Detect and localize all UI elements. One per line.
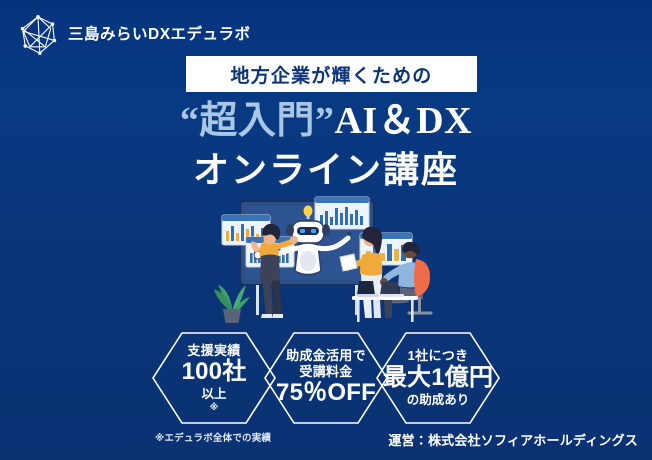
badge-max-subsidy: 1社につき 最大1億円 の助成あり — [374, 330, 502, 426]
headline-main: AI＆DX — [334, 100, 472, 142]
poster-canvas: 三島みらいDXエデュラボ 地方企業が輝くための “超入門”AI＆DX オンライン… — [0, 0, 652, 460]
badge-2-small-top: 1社につき — [408, 349, 469, 364]
badge-2-large: 最大1億円 — [383, 365, 493, 392]
headline-line-1: “超入門”AI＆DX — [0, 100, 652, 144]
badge-0-large: 100社 — [182, 359, 247, 386]
headline-line-2: オンライン講座 — [0, 148, 652, 193]
chart-window-3 — [315, 197, 369, 229]
badge-1-small-mid: 受講料金 — [299, 365, 352, 380]
badge-1-large: 75％OFF — [276, 380, 376, 407]
benefit-badges: 支援実績 100社 以上 ※ 助成金活用で 受講料金 75％OFF 1社につき — [0, 330, 652, 426]
badge-0-note: ※ — [210, 402, 219, 412]
badge-1-small-top: 助成金活用で — [286, 349, 366, 364]
badge-support-record: 支援実績 100社 以上 ※ — [150, 330, 278, 426]
tagline-text: 地方企業が輝くための — [230, 61, 432, 88]
brand-name: 三島みらいDXエデュラボ — [68, 27, 251, 43]
headline-accent: “超入門” — [180, 100, 335, 142]
page-title: “超入門”AI＆DX オンライン講座 — [0, 100, 652, 193]
brand-logo: 三島みらいDXエデュラボ — [18, 14, 251, 56]
operator-company-text: 運営：株式会社ソフィアホールディングス — [388, 430, 638, 449]
badge-0-small-top: 支援実績 — [187, 344, 240, 359]
polygon-network-icon — [18, 14, 58, 56]
footnote-text: ※エデュラボ全体での実績 — [155, 430, 271, 444]
badge-subsidy-discount: 助成金活用で 受講料金 75％OFF — [262, 330, 390, 426]
badge-2-small-bottom: の助成あり — [407, 393, 470, 407]
tagline-ribbon: 地方企業が輝くための — [186, 56, 477, 92]
badge-0-small-bottom: 以上 — [201, 387, 226, 401]
potted-plant — [214, 285, 250, 323]
ai-dx-team-robot-illustration — [212, 193, 440, 327]
